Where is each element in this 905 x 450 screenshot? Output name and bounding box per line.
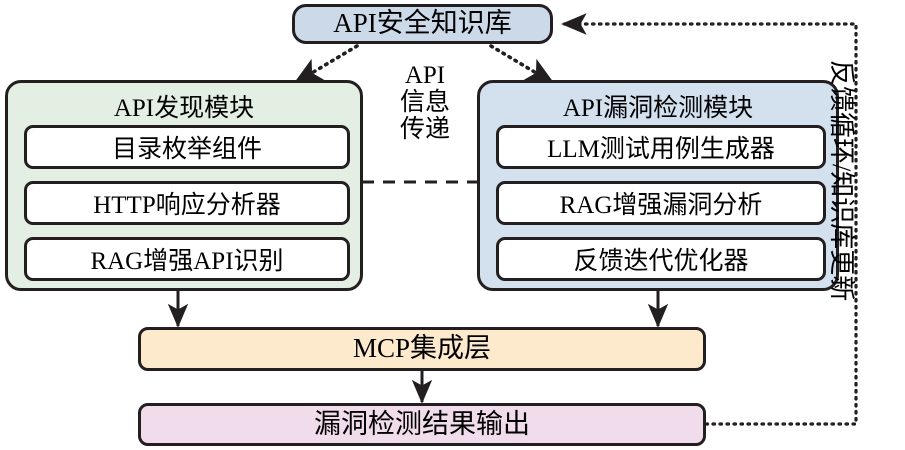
arrow-kb-to-discovery: [295, 46, 357, 83]
module-api-discovery[interactable]: API发现模块 目录枚举组件 HTTP响应分析器 RAG增强API识别: [5, 80, 363, 291]
info-transfer-line-1: API: [375, 62, 475, 89]
component-rag-vulnerability-analysis[interactable]: RAG增强漏洞分析: [496, 181, 826, 225]
mcp-integration-layer-label: MCP集成层: [353, 334, 491, 364]
arrow-kb-to-vulnerability: [491, 46, 553, 83]
module-title-vulnerability: API漏洞检测模块: [480, 88, 836, 124]
module-api-vulnerability-detection[interactable]: API漏洞检测模块 LLM测试用例生成器 RAG增强漏洞分析 反馈迭代优化器: [477, 80, 839, 291]
component-feedback-iterative-optimizer[interactable]: 反馈迭代优化器: [496, 237, 826, 281]
module-title-discovery: API发现模块: [8, 88, 360, 124]
component-llm-testcase-generator[interactable]: LLM测试用例生成器: [496, 125, 826, 169]
component-rag-api-identification[interactable]: RAG增强API识别: [24, 237, 350, 281]
info-transfer-line-3: 传递: [375, 116, 475, 143]
info-transfer-line-2: 信息: [375, 89, 475, 116]
architecture-diagram: API安全知识库 API发现模块 目录枚举组件 HTTP响应分析器 RAG增强A…: [0, 0, 905, 450]
mcp-integration-layer-box[interactable]: MCP集成层: [138, 327, 706, 371]
knowledge-base-label: API安全知识库: [333, 9, 512, 39]
info-transfer-label: API 信息 传递: [375, 62, 475, 143]
knowledge-base-box[interactable]: API安全知识库: [292, 4, 553, 44]
component-http-response-analyzer[interactable]: HTTP响应分析器: [24, 181, 350, 225]
vulnerability-output-label: 漏洞检测结果输出: [314, 410, 530, 440]
feedback-loop-label: 反馈循环/知识库更新: [825, 60, 862, 390]
vulnerability-output-box[interactable]: 漏洞检测结果输出: [138, 403, 706, 446]
component-directory-enumeration[interactable]: 目录枚举组件: [24, 125, 350, 169]
